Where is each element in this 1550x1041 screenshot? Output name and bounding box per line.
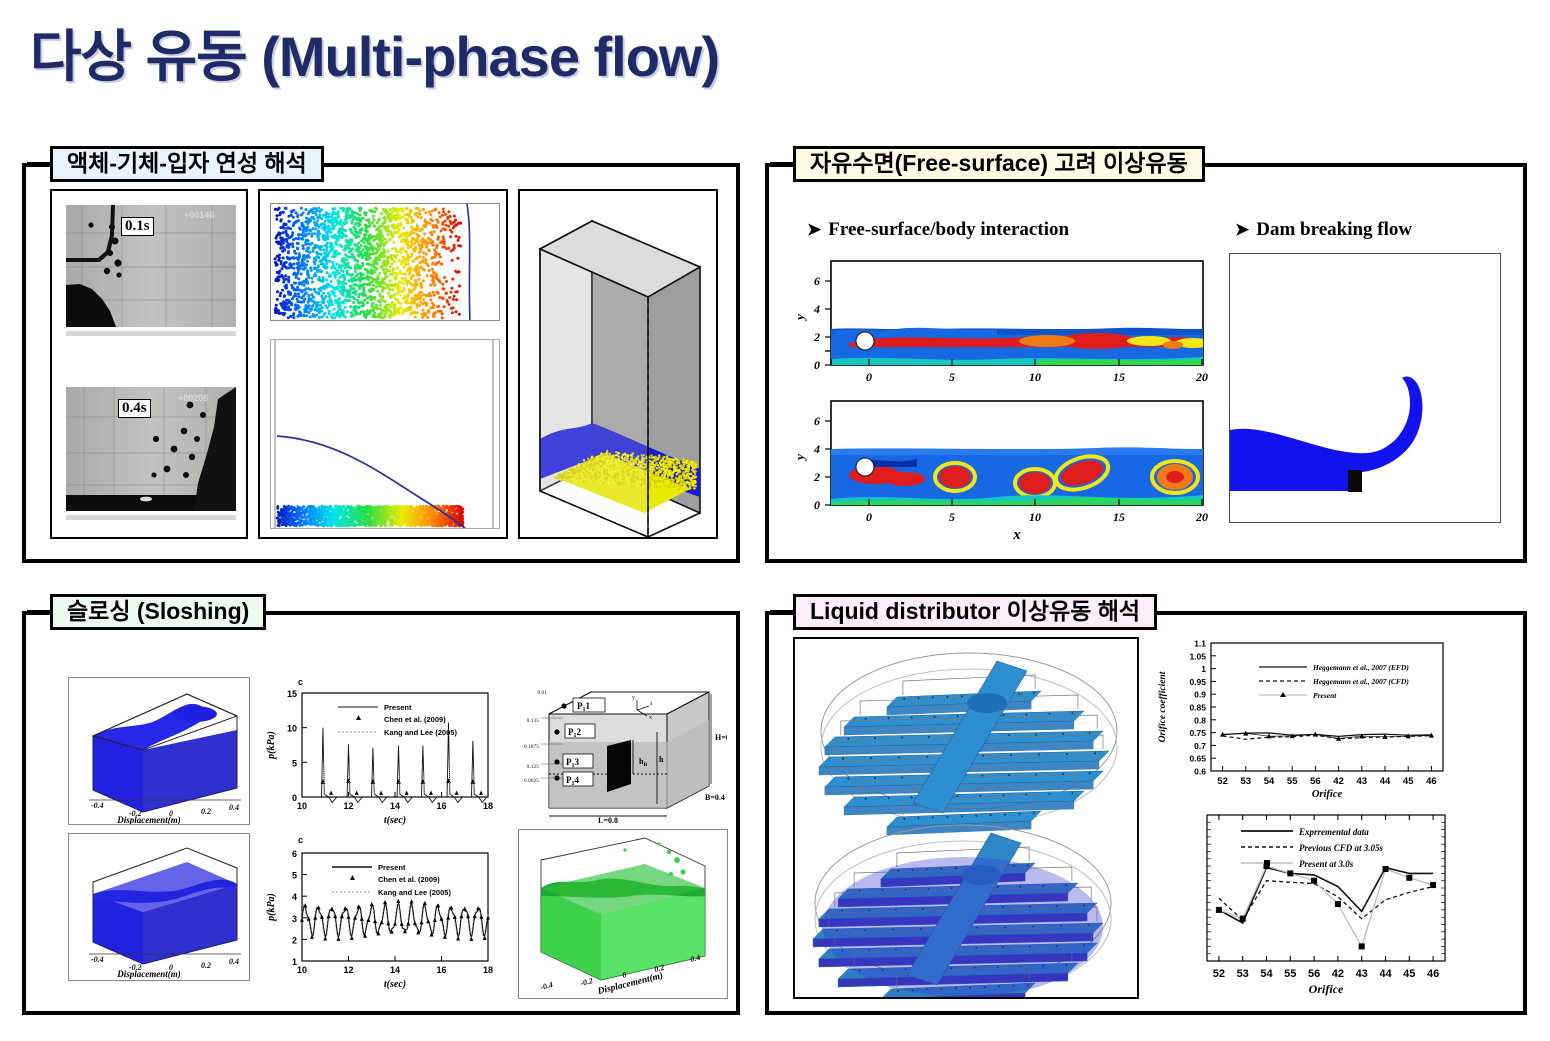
particle-sim-top [270, 203, 500, 321]
panel-header-free-surface: 자유수면(Free-surface) 고려 이상유동 [793, 146, 1205, 182]
page-title: 다상 유동 (Multi-phase flow) [30, 12, 719, 93]
dam-breaking-figure [1229, 253, 1501, 523]
chart-orifice-coefficient: 0.60.650.70.750.80.850.90.9511.051.15253… [1149, 631, 1463, 801]
contour-plot-bottom: 02 46 05 101520 y x [797, 395, 1209, 545]
chart-orifice-flow-distribution: 52535455564243444546Exprremental dataPre… [1149, 805, 1463, 1001]
chart-sloshing-pressure-p2: 1234561012141618PresentChen et al. (2009… [262, 829, 510, 999]
sloshing-schematic: P11 P12 P13 P14 0.010.135 0.18750.1250.0… [518, 673, 728, 825]
panel-liquid-gas-particle: 액체-기체-입자 연성 해석 [22, 163, 740, 563]
bullet-dam-breaking-flow: ➤Dam breaking flow [1235, 219, 1412, 241]
photo-divider-strip [66, 331, 236, 336]
experiment-photo-0.1s: +00146 0.1s [66, 205, 236, 327]
bullet-free-surface-body-interaction: ➤Free-surface/body interaction [807, 219, 1069, 241]
svg-text:+00146: +00146 [184, 210, 214, 220]
panel-header-liquid-distributor: Liquid distributor 이상유동 해석 [793, 594, 1157, 630]
particle-simulation-figure [258, 189, 508, 539]
timestamp-label: 0.4s [118, 399, 151, 418]
sloshing-tank-green: -0.4 -0.2 0 0.2 0.4 Displacement(m) [518, 829, 728, 999]
particle-sim-bottom [270, 339, 500, 529]
svg-text:+00206: +00206 [178, 393, 208, 403]
chart-sloshing-pressure-p1: 0510151012141618PresentChen et al. (2009… [262, 671, 510, 833]
panel-free-surface: 자유수면(Free-surface) 고려 이상유동 ➤Free-surface… [765, 163, 1527, 563]
experiment-photos-figure: +00146 0.1s [50, 189, 248, 539]
bullet-arrow-icon: ➤ [1235, 220, 1249, 239]
photo-divider-strip-2 [66, 515, 236, 520]
timestamp-label: 0.1s [121, 217, 154, 236]
3d-tank-particles-figure [518, 189, 718, 539]
panel-sloshing: 슬로싱 (Sloshing) -0.4-0.2 00.20.4 Displace… [22, 611, 740, 1015]
experiment-photo-0.4s: +00206 0.4s [66, 387, 236, 511]
contour-plot-top: 0 2 4 6 05 101520 y [797, 255, 1209, 387]
bullet-arrow-icon: ➤ [807, 220, 821, 239]
panel-header-liquid-gas-particle: 액체-기체-입자 연성 해석 [50, 146, 324, 182]
panel-liquid-distributor: Liquid distributor 이상유동 해석 0.60.650.70.7… [765, 611, 1527, 1015]
panel-header-sloshing: 슬로싱 (Sloshing) [50, 594, 266, 630]
sloshing-tank-bottom: -0.4-0.2 00.20.4 Displacement(m) [68, 833, 250, 981]
distributor-3d-figure [793, 637, 1139, 999]
sloshing-tank-top: -0.4-0.2 00.20.4 Displacement(m) [68, 677, 250, 825]
